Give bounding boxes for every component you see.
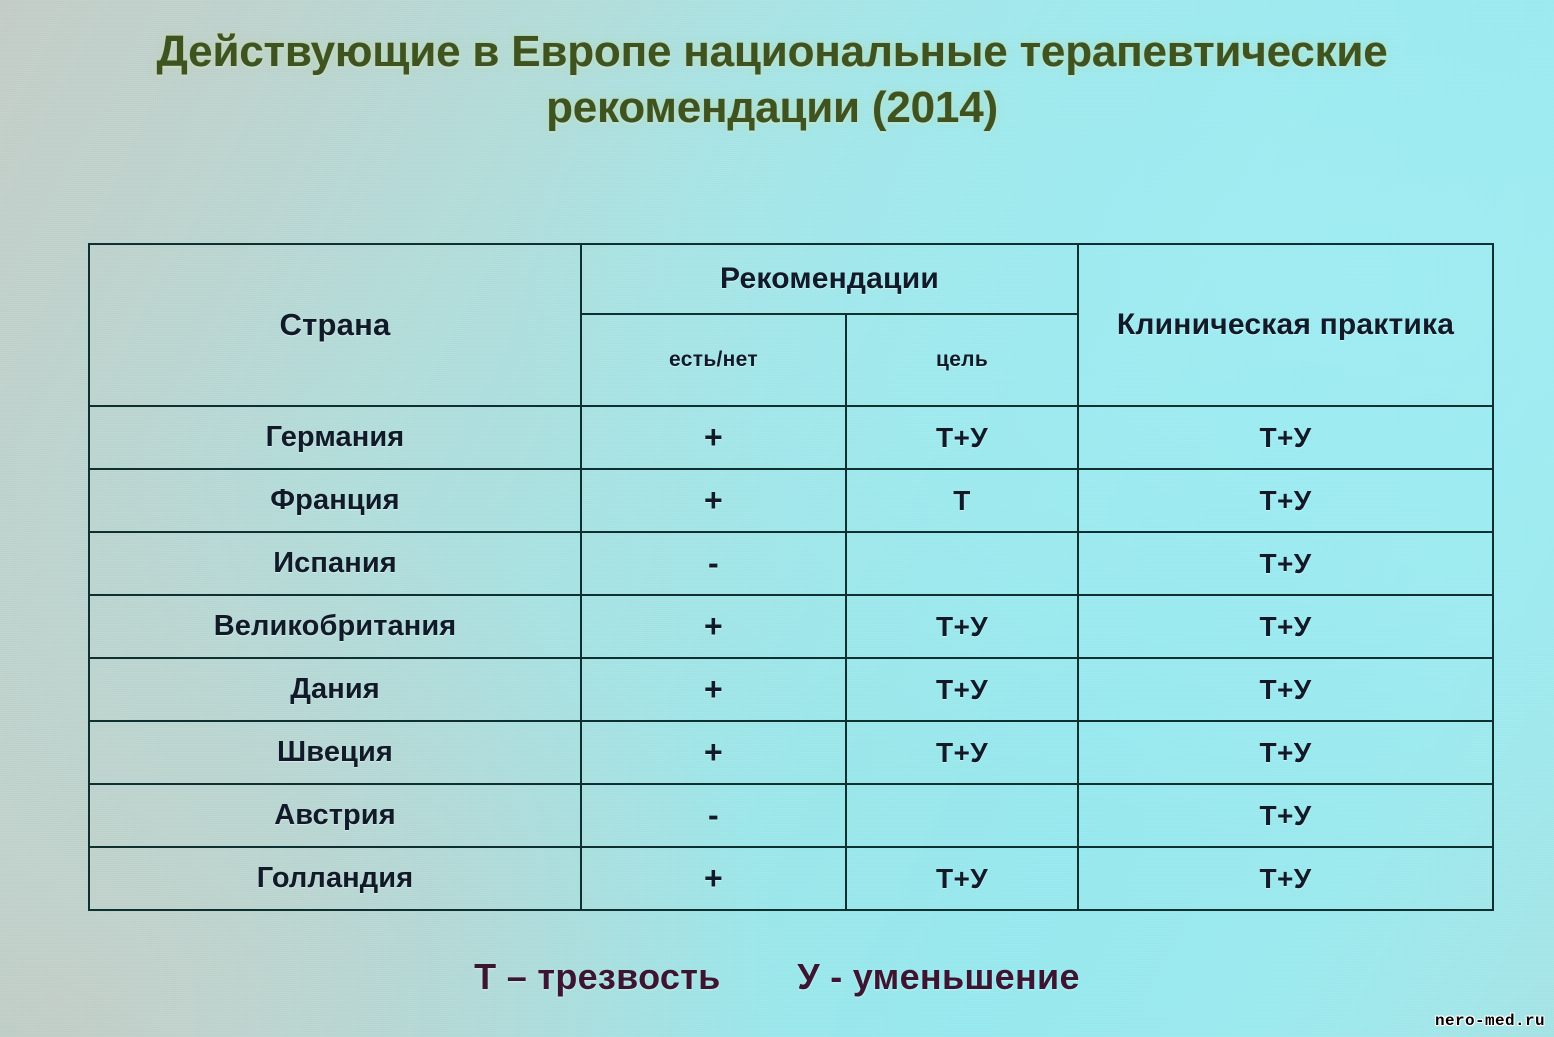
table-row: Великобритания+Т+УТ+У [89, 595, 1493, 658]
cell-goal [846, 532, 1078, 595]
legend-reduction: У - уменьшение [797, 956, 1080, 997]
table-row: Швеция+Т+УТ+У [89, 721, 1493, 784]
cell-goal: Т+У [846, 658, 1078, 721]
cell-exists-or-not: + [581, 469, 846, 532]
table-header-row-primary: Страна Рекомендации Клиническая практика [89, 244, 1493, 314]
cell-country: Голландия [89, 847, 581, 910]
column-header-recommendations: Рекомендации [581, 244, 1078, 314]
column-header-country: Страна [89, 244, 581, 406]
cell-clinical-practice: Т+У [1078, 595, 1493, 658]
cell-exists-or-not: + [581, 406, 846, 469]
recommendations-table: Страна Рекомендации Клиническая практика… [88, 243, 1494, 911]
table-row: Австрия-Т+У [89, 784, 1493, 847]
cell-country: Франция [89, 469, 581, 532]
legend-sobriety: Т – трезвость [474, 956, 720, 997]
cell-clinical-practice: Т+У [1078, 469, 1493, 532]
table-header: Страна Рекомендации Клиническая практика… [89, 244, 1493, 406]
cell-exists-or-not: - [581, 784, 846, 847]
cell-exists-or-not: + [581, 595, 846, 658]
cell-goal: Т+У [846, 721, 1078, 784]
cell-country: Испания [89, 532, 581, 595]
table-row: Германия+Т+УТ+У [89, 406, 1493, 469]
cell-exists-or-not: - [581, 532, 846, 595]
cell-clinical-practice: Т+У [1078, 406, 1493, 469]
cell-country: Швеция [89, 721, 581, 784]
cell-goal: Т [846, 469, 1078, 532]
cell-exists-or-not: + [581, 721, 846, 784]
cell-exists-or-not: + [581, 658, 846, 721]
page-title: Действующие в Европе национальные терапе… [22, 24, 1522, 136]
cell-clinical-practice: Т+У [1078, 721, 1493, 784]
table-body: Германия+Т+УТ+УФранция+ТТ+УИспания-Т+УВе… [89, 406, 1493, 910]
cell-country: Великобритания [89, 595, 581, 658]
cell-country: Австрия [89, 784, 581, 847]
cell-clinical-practice: Т+У [1078, 847, 1493, 910]
table-row: Голландия+Т+УТ+У [89, 847, 1493, 910]
slide-canvas: Действующие в Европе национальные терапе… [0, 0, 1554, 1037]
cell-exists-or-not: + [581, 847, 846, 910]
cell-goal: Т+У [846, 406, 1078, 469]
cell-goal [846, 784, 1078, 847]
cell-goal: Т+У [846, 595, 1078, 658]
column-header-clinical-practice: Клиническая практика [1078, 244, 1493, 406]
table-row: Франция+ТТ+У [89, 469, 1493, 532]
cell-country: Германия [89, 406, 581, 469]
cell-country: Дания [89, 658, 581, 721]
table-row: Дания+Т+УТ+У [89, 658, 1493, 721]
cell-goal: Т+У [846, 847, 1078, 910]
cell-clinical-practice: Т+У [1078, 532, 1493, 595]
site-watermark: nero-med.ru [1435, 1012, 1545, 1030]
cell-clinical-practice: Т+У [1078, 784, 1493, 847]
column-header-goal: цель [846, 314, 1078, 406]
column-header-exists-or-not: есть/нет [581, 314, 846, 406]
recommendations-table-container: Страна Рекомендации Клиническая практика… [88, 243, 1492, 908]
table-row: Испания-Т+У [89, 532, 1493, 595]
legend: Т – трезвость У - уменьшение [0, 956, 1554, 998]
cell-clinical-practice: Т+У [1078, 658, 1493, 721]
